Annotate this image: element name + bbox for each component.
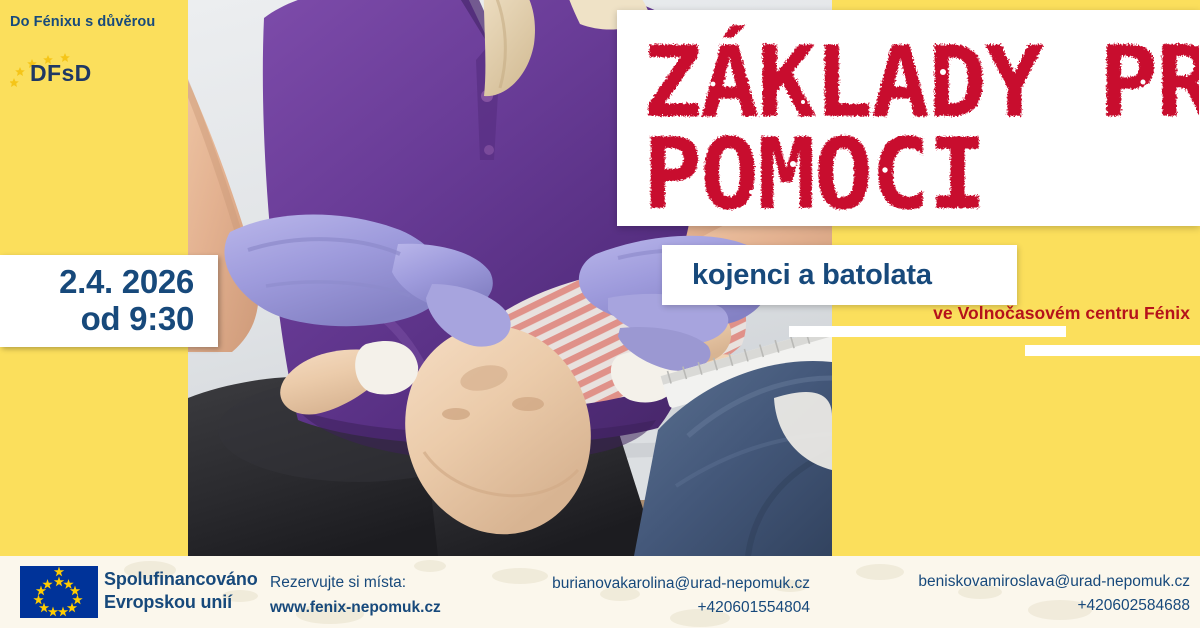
- eu-funding-text: Spolufinancováno Evropskou unií: [104, 568, 258, 613]
- contact-block-2: beniskovamiroslava@urad-nepomuk.cz +4206…: [830, 570, 1190, 617]
- contact-block-1: burianovakarolina@urad-nepomuk.cz +42060…: [460, 572, 810, 619]
- audience-card: kojenci a batolata: [662, 245, 1017, 305]
- decor-bar-2: [1025, 345, 1200, 356]
- date-card: 2.4. 2026 od 9:30: [0, 255, 218, 347]
- venue-label: ve Volnočasovém centru Fénix: [933, 303, 1190, 324]
- decor-bar-1: [789, 326, 1066, 337]
- brand-block: Do Fénixu s důvěrou DFsD: [10, 14, 190, 92]
- eu-flag-icon: [20, 566, 98, 618]
- event-time: od 9:30: [81, 301, 194, 338]
- eu-funding-line2: Evropskou unií: [104, 591, 258, 614]
- audience-label: kojenci a batolata: [692, 259, 932, 292]
- brand-logo-text: DFsD: [30, 60, 92, 87]
- event-date: 2.4. 2026: [59, 264, 194, 301]
- contact-email-2[interactable]: beniskovamiroslava@urad-nepomuk.cz: [830, 570, 1190, 594]
- reservation-block: Rezervujte si místa: www.fenix-nepomuk.c…: [270, 571, 441, 621]
- reservation-url[interactable]: www.fenix-nepomuk.cz: [270, 596, 441, 621]
- brand-logo: DFsD: [10, 52, 190, 92]
- contact-phone-2[interactable]: +420602584688: [830, 594, 1190, 618]
- title-stencil: ZÁKLADY PRVNÍ POMOCI: [643, 24, 1199, 216]
- brand-tagline: Do Fénixu s důvěrou: [10, 14, 190, 30]
- contact-email-1[interactable]: burianovakarolina@urad-nepomuk.cz: [460, 572, 810, 596]
- poster-root: Do Fénixu s důvěrou DFsD 2.4. 2026 od 9:…: [0, 0, 1200, 628]
- title-line2: POMOCI: [643, 118, 985, 216]
- contact-phone-1[interactable]: +420601554804: [460, 596, 810, 620]
- reservation-label: Rezervujte si místa:: [270, 571, 441, 596]
- eu-funding-line1: Spolufinancováno: [104, 568, 258, 591]
- title-card: ZÁKLADY PRVNÍ POMOCI: [617, 10, 1200, 226]
